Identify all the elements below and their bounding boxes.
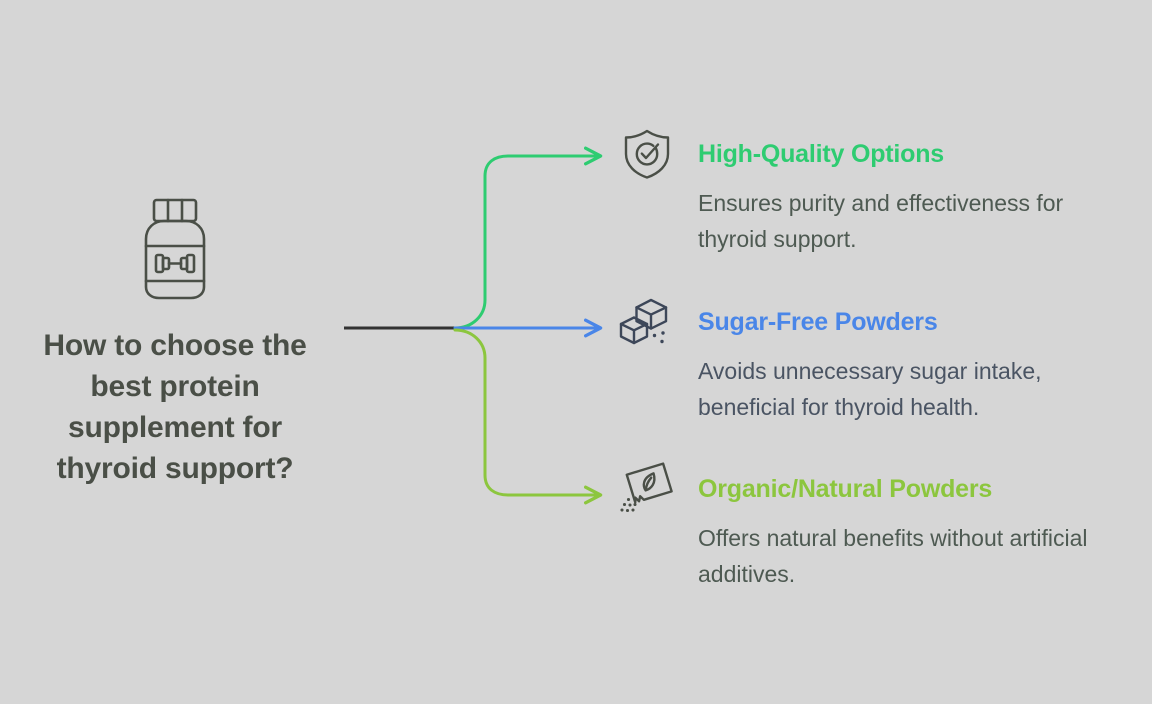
sugar-cubes-icon bbox=[618, 295, 676, 349]
connector-branch-1 bbox=[455, 156, 600, 328]
shield-check-icon bbox=[618, 127, 676, 181]
branch-organic-natural-powders[interactable]: Organic/Natural Powders Offers natural b… bbox=[618, 463, 1138, 592]
branch-title: Organic/Natural Powders bbox=[698, 475, 992, 504]
branch-description: Ensures purity and effectiveness for thy… bbox=[698, 186, 1108, 257]
branch-sugar-free-powders[interactable]: Sugar-Free Powders Avoids unnecessary su… bbox=[618, 296, 1138, 425]
branch-title: Sugar-Free Powders bbox=[698, 308, 938, 337]
root-node: How to choose the best protein supplemen… bbox=[20, 195, 330, 489]
branch-header: High-Quality Options bbox=[618, 128, 1138, 180]
branch-title: High-Quality Options bbox=[698, 140, 944, 169]
organic-sachet-leaf-icon bbox=[618, 462, 676, 516]
diagram-canvas: How to choose the best protein supplemen… bbox=[0, 0, 1152, 704]
branch-high-quality-options[interactable]: High-Quality Options Ensures purity and … bbox=[618, 128, 1138, 257]
root-title: How to choose the best protein supplemen… bbox=[25, 325, 325, 489]
connector-branch-3 bbox=[455, 330, 600, 495]
branch-header: Sugar-Free Powders bbox=[618, 296, 1138, 348]
protein-supplement-jar-icon bbox=[129, 195, 221, 303]
branch-header: Organic/Natural Powders bbox=[618, 463, 1138, 515]
branch-description: Avoids unnecessary sugar intake, benefic… bbox=[698, 354, 1108, 425]
branch-description: Offers natural benefits without artifici… bbox=[698, 521, 1128, 592]
